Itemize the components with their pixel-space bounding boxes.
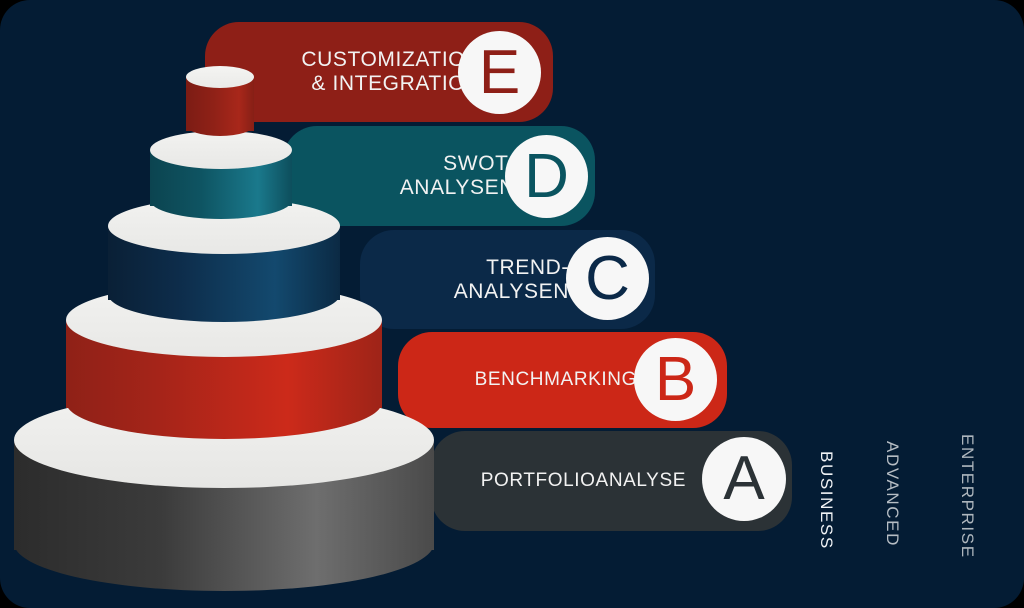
band-label-a: PORTFOLIOANALYSE xyxy=(481,470,686,491)
badge-d[interactable]: D xyxy=(505,135,588,218)
band-label-c: TREND- ANALYSEN xyxy=(454,256,569,303)
tier-label-enterprise: ENTERPRISE xyxy=(957,434,977,559)
badge-b[interactable]: B xyxy=(634,338,717,421)
badge-e[interactable]: E xyxy=(458,31,541,114)
band-label-e: CUSTOMIZATION & INTEGRATION xyxy=(301,48,481,95)
band-label-d: SWOT- ANALYSEN xyxy=(400,152,515,199)
stack-layer-cap xyxy=(186,66,254,144)
infographic-canvas: CUSTOMIZATION & INTEGRATION SWOT- ANALYS… xyxy=(0,0,1024,608)
stack-layer-teal xyxy=(150,131,292,231)
tier-label-advanced: ADVANCED xyxy=(882,441,902,547)
badge-a[interactable]: A xyxy=(702,437,786,521)
badge-c[interactable]: C xyxy=(566,237,649,320)
band-label-b: BENCHMARKING xyxy=(475,369,637,390)
tier-label-business: BUSINESS xyxy=(816,451,836,550)
cap-cylinder-top xyxy=(186,66,254,88)
